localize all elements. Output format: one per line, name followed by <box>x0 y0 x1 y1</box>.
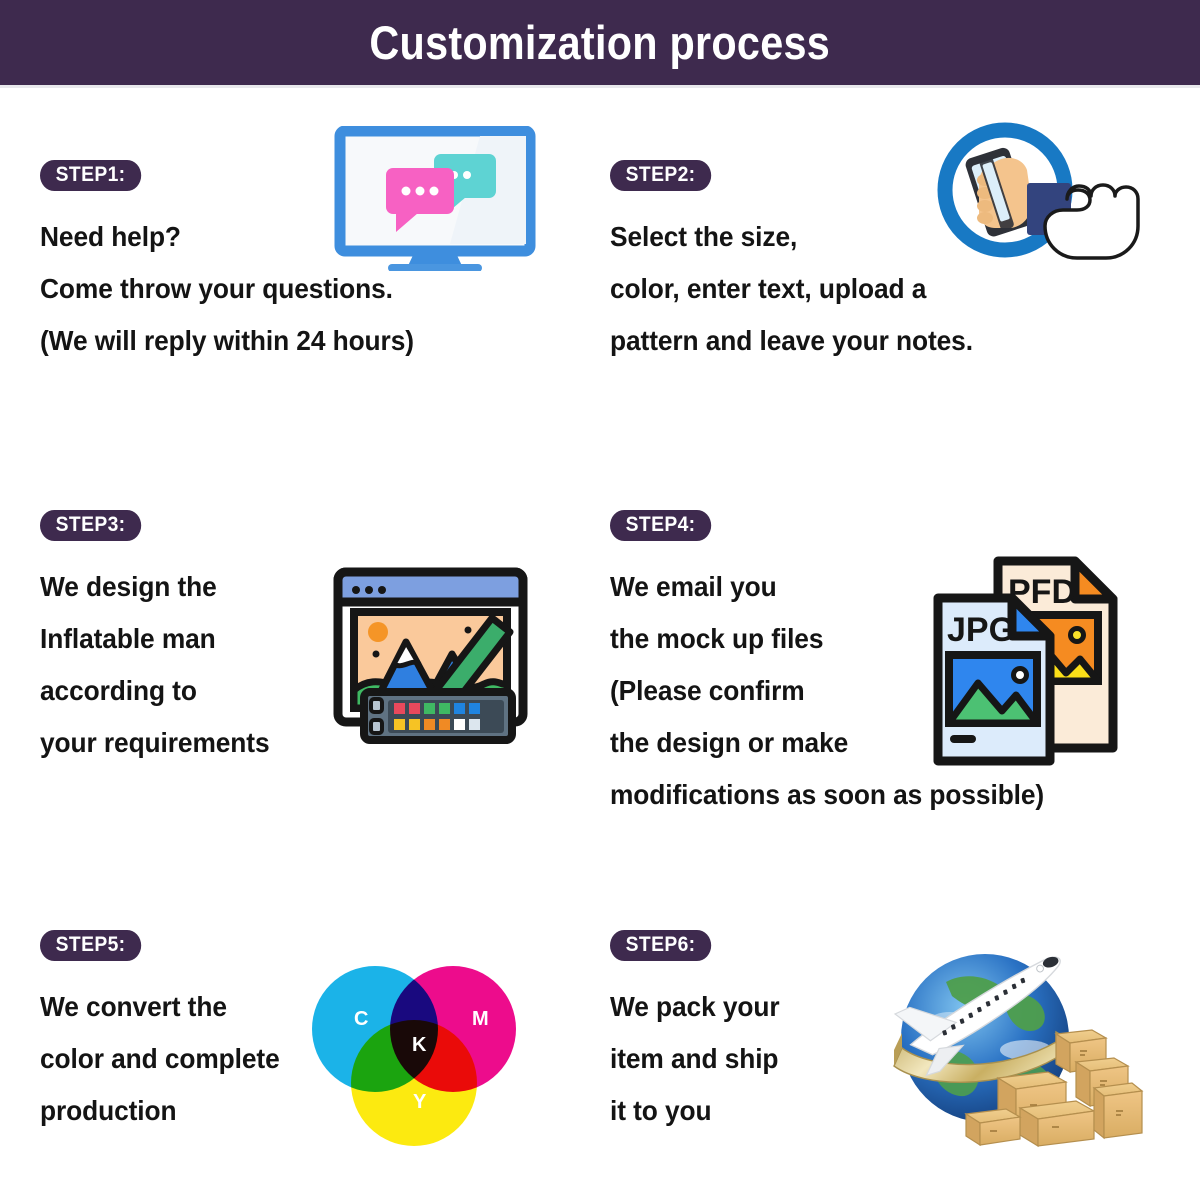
step-5-line-1: We convert the <box>40 981 280 1033</box>
monitor-chat-icon <box>330 126 540 276</box>
step-card-2: STEP2: Select the size, color, enter tex… <box>595 138 1200 488</box>
cmyk-label-k: K <box>412 1034 426 1057</box>
step-5-badge: STEP5: <box>40 930 141 961</box>
step-2-badge: STEP2: <box>610 160 711 191</box>
step-2-line-2: color, enter text, upload a <box>610 263 973 315</box>
cmyk-label-y: Y <box>413 1091 426 1114</box>
step-3-lines: We design the Inflatable man according t… <box>40 561 284 769</box>
page-title: Customization process <box>370 15 831 70</box>
step-3-line-4: your requirements <box>40 717 270 769</box>
step-6-text: STEP6: We pack your item and ship it to … <box>610 930 790 1137</box>
step-5-line-2: color and complete <box>40 1033 280 1085</box>
step-5-lines: We convert the color and complete produc… <box>40 981 295 1137</box>
step-3-text: STEP3: We design the Inflatable man acco… <box>40 510 284 769</box>
cmyk-label-c: C <box>354 1008 368 1031</box>
globe-plane-boxes-icon <box>880 938 1145 1158</box>
step-3-badge: STEP3: <box>40 510 141 541</box>
image-files-icon: PFD JPG <box>920 543 1135 783</box>
step-1-line-3: (We will reply within 24 hours) <box>40 315 414 367</box>
design-window-icon <box>330 550 545 760</box>
step-3-line-1: We design the <box>40 561 270 613</box>
step-4-badge: STEP4: <box>610 510 711 541</box>
cmyk-venn-icon: C M K Y <box>312 966 547 1146</box>
step-6-line-1: We pack your <box>610 981 780 1033</box>
cmyk-label-m: M <box>472 1008 489 1031</box>
step-2-line-1: Select the size, <box>610 211 973 263</box>
step-card-6: STEP6: We pack your item and ship it to … <box>595 908 1200 1200</box>
steps-grid: STEP1: Need help? Come throw your questi… <box>0 88 1200 1200</box>
step-2-line-3: pattern and leave your notes. <box>610 315 973 367</box>
step-card-3: STEP3: We design the Inflatable man acco… <box>0 488 595 888</box>
step-3-line-3: according to <box>40 665 270 717</box>
cmyk-venn: C M K Y <box>312 966 547 1146</box>
page-header: Customization process <box>0 0 1200 85</box>
step-6-line-2: item and ship <box>610 1033 780 1085</box>
step-card-4: STEP4: We email you the mock up files (P… <box>595 488 1200 888</box>
step-5-line-3: production <box>40 1085 280 1137</box>
step-card-5: STEP5: We convert the color and complete… <box>0 908 595 1200</box>
step-6-badge: STEP6: <box>610 930 711 961</box>
step-1-badge: STEP1: <box>40 160 141 191</box>
step-card-1: STEP1: Need help? Come throw your questi… <box>0 138 595 488</box>
hand-tap-phone-icon <box>927 122 1157 277</box>
step-6-lines: We pack your item and ship it to you <box>610 981 790 1137</box>
step-3-line-2: Inflatable man <box>40 613 270 665</box>
step-6-line-3: it to you <box>610 1085 780 1137</box>
file-front-label: JPG <box>947 611 1015 649</box>
step-5-text: STEP5: We convert the color and complete… <box>40 930 295 1137</box>
